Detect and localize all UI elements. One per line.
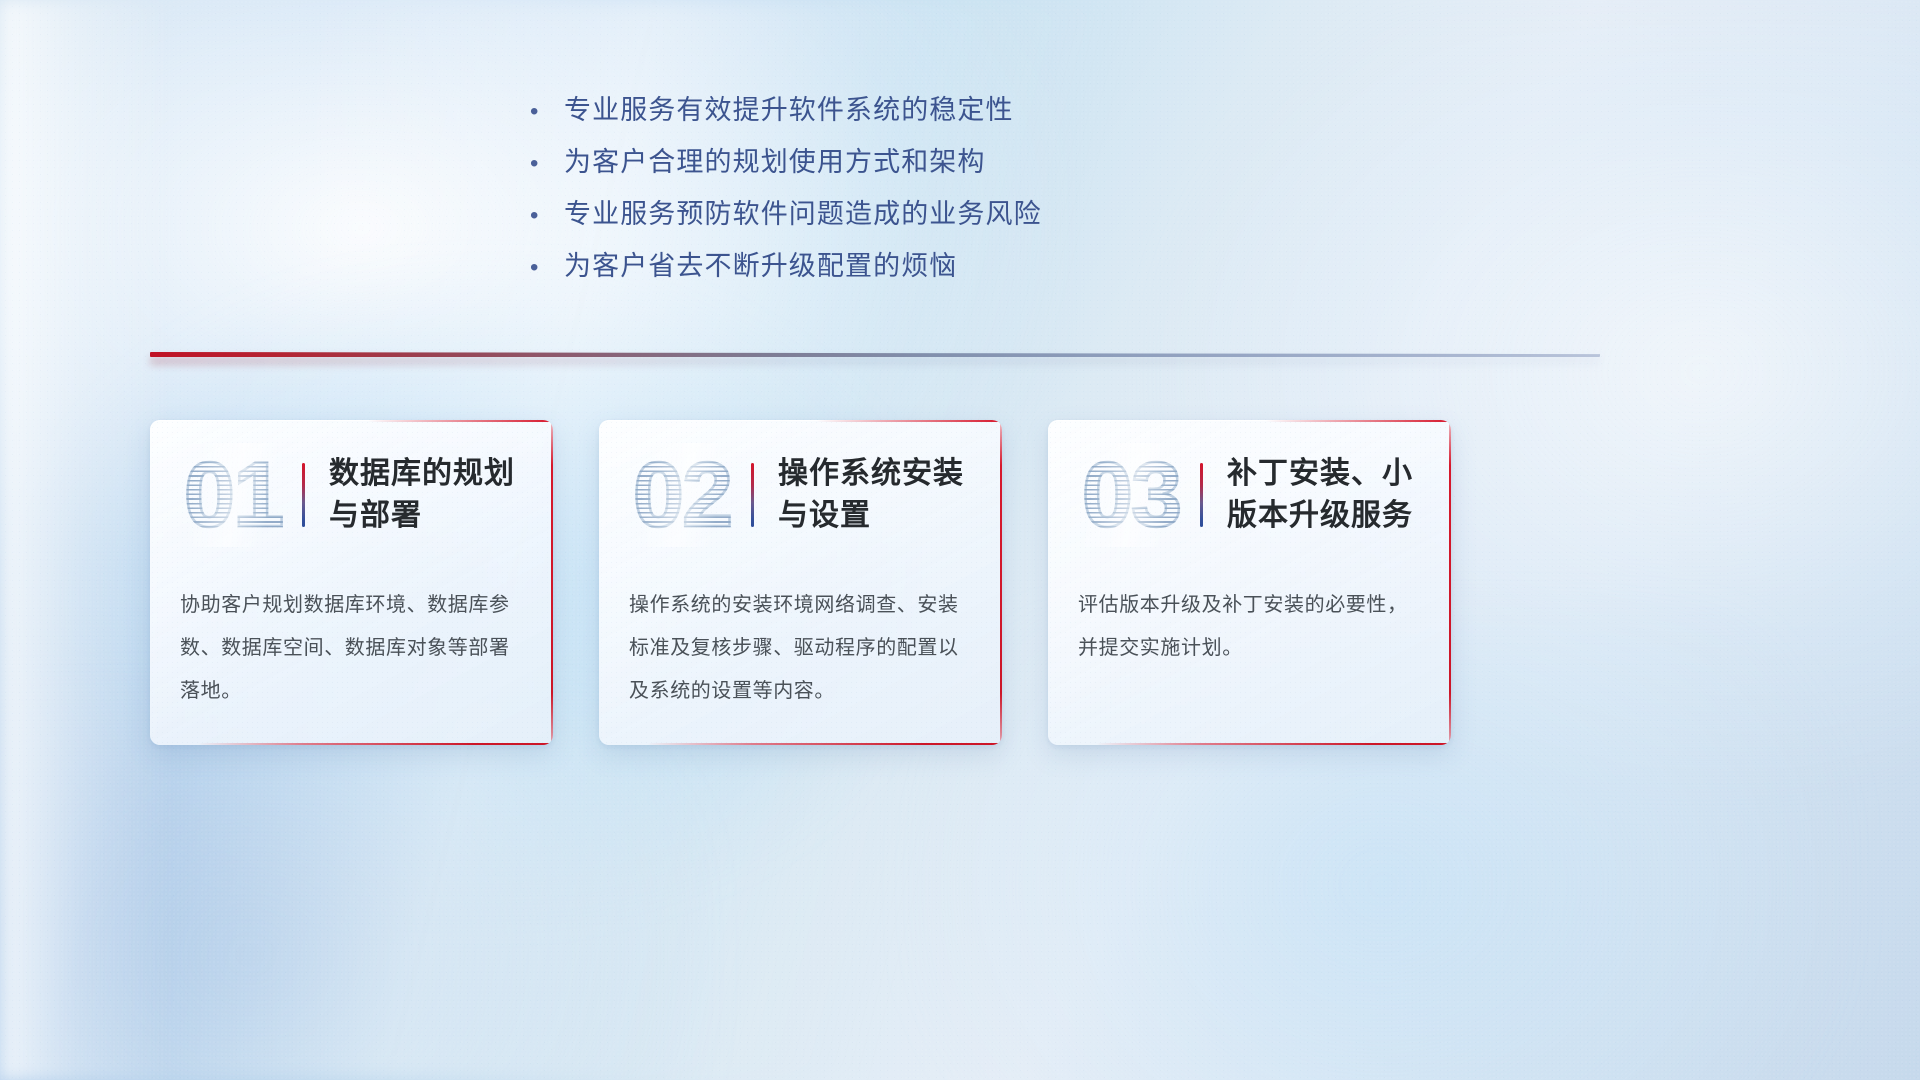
bullet-marker-icon: • [530,100,564,124]
card-header: 03 补丁安装、小 版本升级服务 [1048,420,1451,570]
card-title-line-2: 版本升级服务 [1227,495,1413,537]
card-title-line-1: 补丁安装、小 [1227,453,1413,495]
bullet-text-2: 为客户合理的规划使用方式和架构 [564,140,986,179]
section-divider [150,348,1600,364]
card-title-01: 数据库的规划 与部署 [329,453,515,537]
card-title-divider-rule [751,463,754,527]
bullet-item-1: • 专业服务有效提升软件系统的稳定性 [530,88,1290,140]
card-title-line-1: 数据库的规划 [329,453,515,495]
bullet-text-4: 为客户省去不断升级配置的烦恼 [564,244,957,283]
card-accent-bottom-edge [198,743,553,746]
card-title-divider-rule [1200,463,1203,527]
bullet-text-1: 专业服务有效提升软件系统的稳定性 [564,88,1014,127]
divider-shadow [150,357,1600,365]
card-body-02: 操作系统的安装环境网络调查、安装标准及复核步骤、驱动程序的配置以及系统的设置等内… [599,570,1002,713]
card-number-01: 01 [174,443,292,547]
service-card-01[interactable]: 01 数据库的规划 与部署 协助客户规划数据库环境、数据库参数、数据库空间、数据… [150,420,553,745]
bullet-item-3: • 专业服务预防软件问题造成的业务风险 [530,192,1290,244]
card-header: 01 数据库的规划 与部署 [150,420,553,570]
card-number-02: 02 [623,443,741,547]
bullet-marker-icon: • [530,152,564,176]
service-card-02[interactable]: 02 操作系统安装 与设置 操作系统的安装环境网络调查、安装标准及复核步骤、驱动… [599,420,1002,745]
card-title-03: 补丁安装、小 版本升级服务 [1227,453,1413,537]
card-accent-bottom-edge [647,743,1002,746]
card-number-03: 03 [1072,443,1190,547]
card-title-divider-rule [302,463,305,527]
bullet-item-2: • 为客户合理的规划使用方式和架构 [530,140,1290,192]
bullet-list: • 专业服务有效提升软件系统的稳定性 • 为客户合理的规划使用方式和架构 • 专… [530,88,1290,296]
service-card-03[interactable]: 03 补丁安装、小 版本升级服务 评估版本升级及补丁安装的必要性，并提交实施计划… [1048,420,1451,745]
card-accent-bottom-edge [1096,743,1451,746]
bullet-marker-icon: • [530,204,564,228]
card-title-02: 操作系统安装 与设置 [778,453,964,537]
service-card-row: 01 数据库的规划 与部署 协助客户规划数据库环境、数据库参数、数据库空间、数据… [150,420,1610,750]
card-header: 02 操作系统安装 与设置 [599,420,1002,570]
card-title-line-1: 操作系统安装 [778,453,964,495]
card-body-03: 评估版本升级及补丁安装的必要性，并提交实施计划。 [1048,570,1451,670]
divider-line [150,352,1600,357]
card-body-01: 协助客户规划数据库环境、数据库参数、数据库空间、数据库对象等部署落地。 [150,570,553,713]
card-title-line-2: 与部署 [329,495,515,537]
card-title-line-2: 与设置 [778,495,964,537]
bullet-item-4: • 为客户省去不断升级配置的烦恼 [530,244,1290,296]
bullet-text-3: 专业服务预防软件问题造成的业务风险 [564,192,1042,231]
bullet-marker-icon: • [530,256,564,280]
